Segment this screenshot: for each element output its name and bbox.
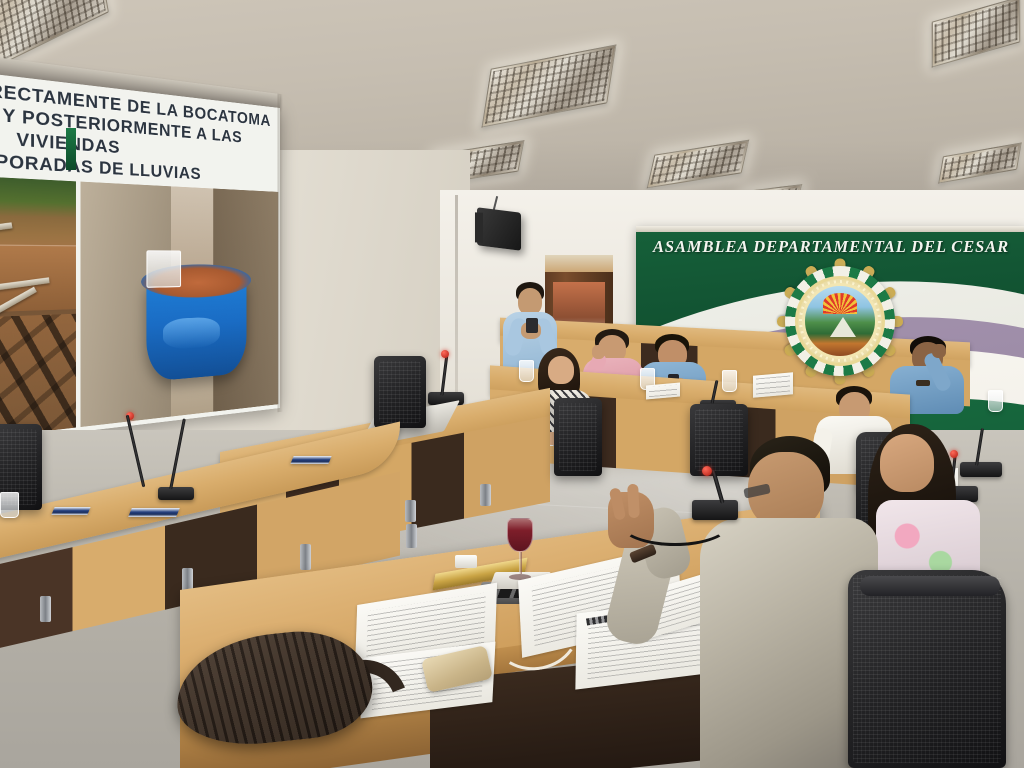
microphone-base <box>960 462 1002 477</box>
office-chair[interactable] <box>690 404 748 476</box>
microphone-base <box>158 487 194 500</box>
emblem-ribbon <box>66 128 76 170</box>
microphone-tip-icon <box>950 450 958 458</box>
office-chair[interactable] <box>848 570 1006 768</box>
projection-screen: A QUE LLEGA DIRECTAMENTE DE LA BOCATOMA … <box>0 48 280 467</box>
office-chair[interactable] <box>554 398 602 476</box>
water-glass <box>722 370 737 392</box>
head <box>518 288 542 315</box>
desk-nameplate-holder <box>290 456 331 464</box>
blue-bucket-icon <box>146 277 247 382</box>
chair-mesh <box>379 361 421 423</box>
banner-top-trim <box>636 226 1024 232</box>
projection-screen-edge <box>277 94 282 413</box>
desk-leg <box>406 524 417 548</box>
chair-mesh <box>853 575 1001 763</box>
projected-slide: A QUE LLEGA DIRECTAMENTE DE LA BOCATOMA … <box>0 48 280 467</box>
hand <box>592 345 605 359</box>
microphone-tip-icon <box>702 466 712 476</box>
chair-headrest <box>860 576 1000 596</box>
emblem-medallion <box>802 283 878 359</box>
water-glass <box>0 492 19 518</box>
slide-photo-treatment-plant <box>0 166 76 462</box>
wine-glass-stem <box>519 552 522 574</box>
head <box>548 356 574 384</box>
desk-nameplate-holder <box>51 507 90 515</box>
chair-mesh <box>559 403 597 471</box>
chair-mesh <box>695 409 743 471</box>
microphone-tip-icon <box>441 350 449 358</box>
water-glass <box>988 390 1003 412</box>
desk-leg <box>40 596 51 622</box>
desk-leg <box>405 500 416 522</box>
microphone-cable <box>620 502 730 546</box>
tissue-box <box>455 555 477 568</box>
plant-rail <box>0 222 13 258</box>
desk-leg <box>480 484 491 506</box>
meeting-room-photo: A QUE LLEGA DIRECTAMENTE DE LA BOCATOMA … <box>0 0 1024 768</box>
water-glass <box>519 360 534 382</box>
smartphone-icon <box>526 318 538 333</box>
desk-leg <box>300 544 311 570</box>
wristwatch-icon <box>916 380 930 386</box>
head <box>880 434 934 492</box>
cesar-coat-of-arms-icon <box>769 250 911 392</box>
emblem-triangle-icon <box>830 317 856 337</box>
wine-glass <box>507 518 533 552</box>
desk-nameplate-holder <box>128 508 180 517</box>
documents <box>646 383 680 400</box>
wall-speaker-icon <box>477 207 521 250</box>
hand <box>932 344 946 358</box>
office-chair[interactable] <box>374 356 426 428</box>
slide-photo-blue-bucket <box>81 182 279 427</box>
emblem-sun-icon <box>823 293 857 314</box>
clear-cup-icon <box>146 251 181 288</box>
plant-rail <box>0 287 37 378</box>
